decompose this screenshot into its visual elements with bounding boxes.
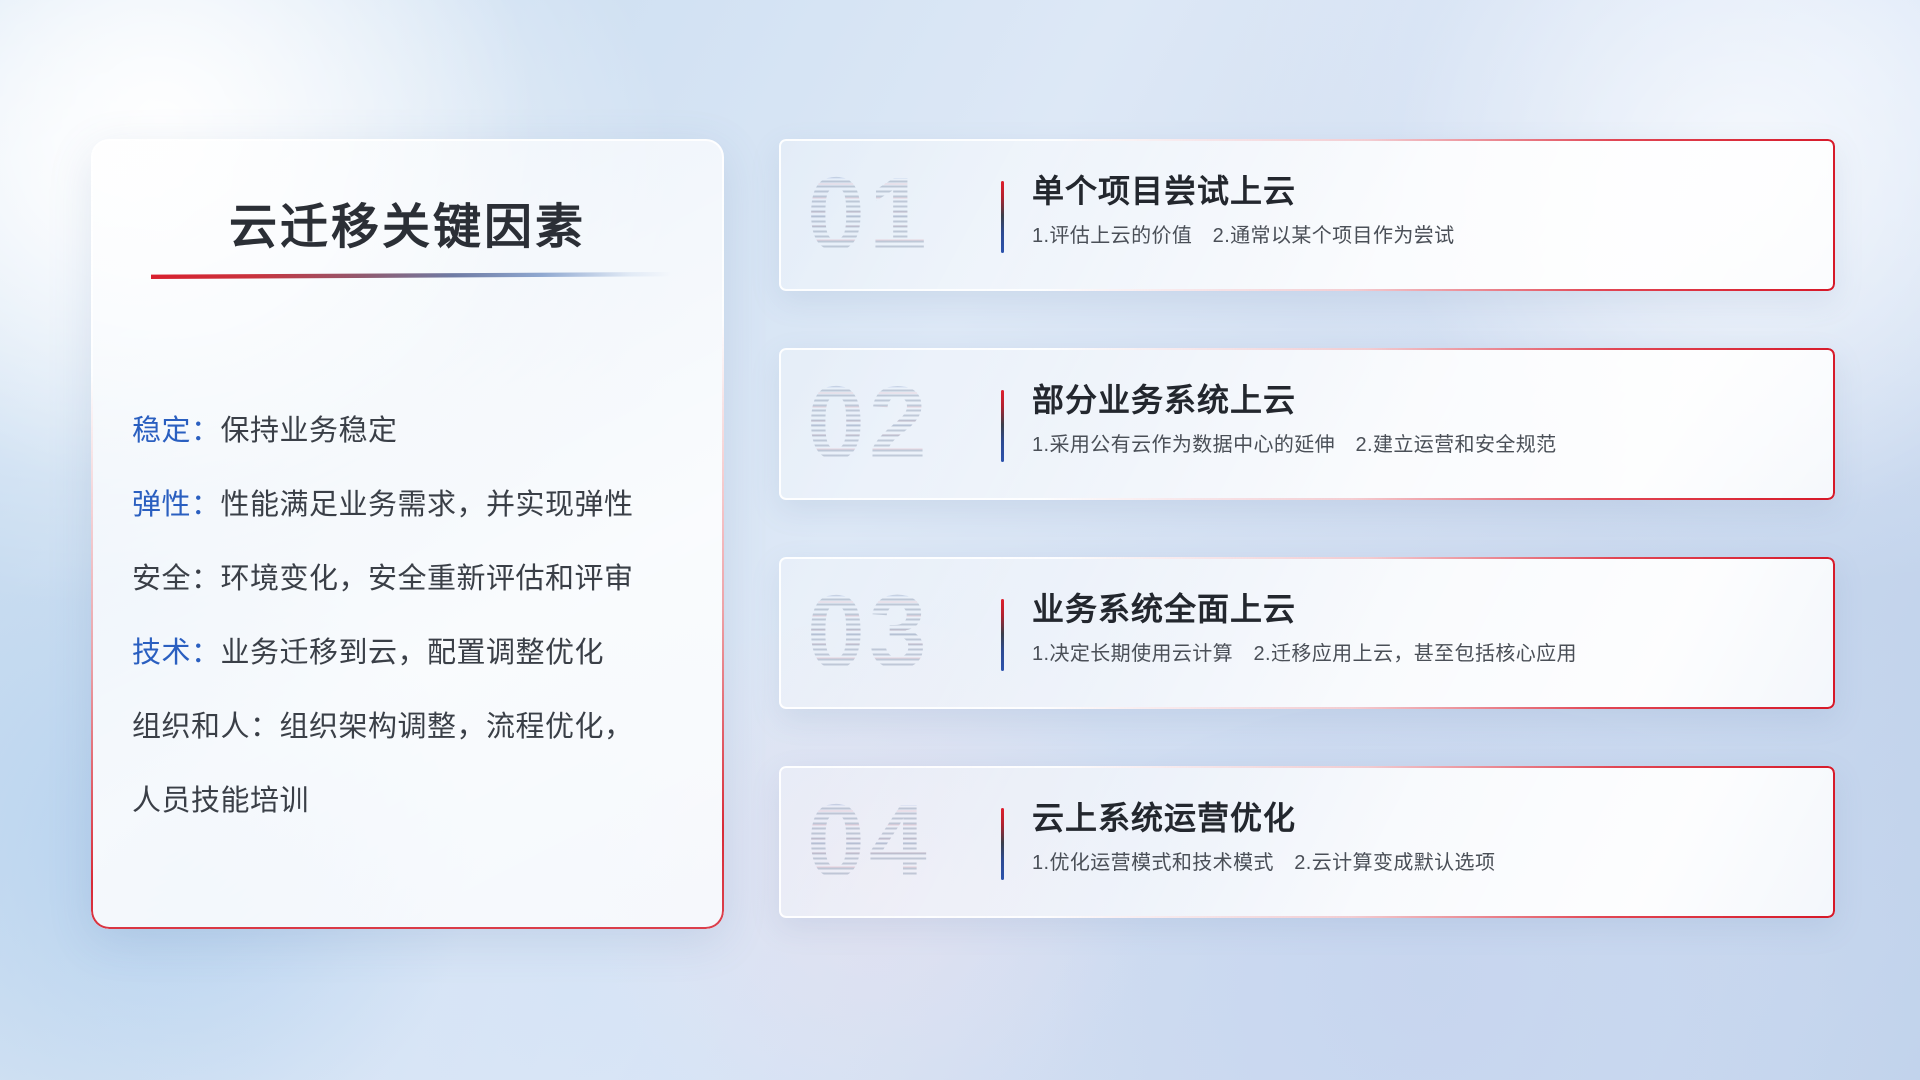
factor-item: 安全：环境变化，安全重新评估和评审 <box>132 542 694 616</box>
step-accent-bar <box>1001 390 1004 462</box>
step-body: 云上系统运营优化 1.优化运营模式和技术模式 2.云计算变成默认选项 <box>1032 796 1811 877</box>
step-number: 02 <box>807 365 931 484</box>
factor-label: 稳定： <box>132 415 221 447</box>
panel-title: 云迁移关键因素 <box>91 187 724 257</box>
factor-label: 安全： <box>132 563 221 595</box>
step-title: 单个项目尝试上云 <box>1032 169 1811 213</box>
factor-item: 稳定：保持业务稳定 <box>132 394 694 468</box>
factor-label: 组织和人： <box>132 711 280 743</box>
factor-text: 业务迁移到云，配置调整优化 <box>221 637 605 669</box>
factor-item: 弹性：性能满足业务需求，并实现弹性 <box>132 468 694 542</box>
factor-item-continuation: 人员技能培训 <box>132 764 694 838</box>
factor-text: 环境变化，安全重新评估和评审 <box>221 563 634 595</box>
key-factors-panel: 云迁移关键因素 稳定：保持业务稳定 弹性：性能满足业务需求，并实现弹性 安全：环… <box>91 139 724 929</box>
step-body: 部分业务系统上云 1.采用公有云作为数据中心的延伸 2.建立运营和安全规范 <box>1032 378 1811 459</box>
step-number: 01 <box>807 156 931 275</box>
step-accent-bar <box>1001 181 1004 253</box>
step-description: 1.评估上云的价值 2.通常以某个项目作为尝试 <box>1032 222 1811 250</box>
migration-steps-list: 01 01 单个项目尝试上云 1.评估上云的价值 2.通常以某个项目作为尝试 0… <box>779 139 1835 918</box>
factor-text: 性能满足业务需求，并实现弹性 <box>221 489 634 521</box>
factor-label: 弹性： <box>132 489 221 521</box>
step-description: 1.决定长期使用云计算 2.迁移应用上云，甚至包括核心应用 <box>1032 640 1811 668</box>
step-card-01[interactable]: 01 01 单个项目尝试上云 1.评估上云的价值 2.通常以某个项目作为尝试 <box>779 139 1835 291</box>
step-number-tint: 04 <box>807 783 931 902</box>
step-accent-bar <box>1001 808 1004 880</box>
slide-root: 云迁移关键因素 稳定：保持业务稳定 弹性：性能满足业务需求，并实现弹性 安全：环… <box>0 0 1920 1080</box>
step-description: 1.采用公有云作为数据中心的延伸 2.建立运营和安全规范 <box>1032 431 1811 459</box>
factor-text: 组织架构调整，流程优化， <box>280 711 634 743</box>
factor-item: 组织和人：组织架构调整，流程优化， <box>132 690 694 764</box>
factor-list: 稳定：保持业务稳定 弹性：性能满足业务需求，并实现弹性 安全：环境变化，安全重新… <box>132 394 694 838</box>
step-card-04[interactable]: 04 04 云上系统运营优化 1.优化运营模式和技术模式 2.云计算变成默认选项 <box>779 766 1835 918</box>
step-number-tint: 01 <box>807 156 931 275</box>
step-number-tint: 02 <box>807 365 931 484</box>
step-number: 04 <box>807 783 931 902</box>
step-accent-bar <box>1001 599 1004 671</box>
factor-text: 保持业务稳定 <box>221 415 398 447</box>
step-body: 业务系统全面上云 1.决定长期使用云计算 2.迁移应用上云，甚至包括核心应用 <box>1032 587 1811 668</box>
step-description: 1.优化运营模式和技术模式 2.云计算变成默认选项 <box>1032 849 1811 877</box>
title-underline-rule <box>151 272 671 279</box>
step-card-02[interactable]: 02 02 部分业务系统上云 1.采用公有云作为数据中心的延伸 2.建立运营和安… <box>779 348 1835 500</box>
step-title: 云上系统运营优化 <box>1032 796 1811 840</box>
step-title: 部分业务系统上云 <box>1032 378 1811 422</box>
factor-label: 技术： <box>132 637 221 669</box>
step-body: 单个项目尝试上云 1.评估上云的价值 2.通常以某个项目作为尝试 <box>1032 169 1811 250</box>
step-number: 03 <box>807 574 931 693</box>
step-title: 业务系统全面上云 <box>1032 587 1811 631</box>
factor-text-line2: 人员技能培训 <box>132 785 309 817</box>
step-card-03[interactable]: 03 03 业务系统全面上云 1.决定长期使用云计算 2.迁移应用上云，甚至包括… <box>779 557 1835 709</box>
factor-item: 技术：业务迁移到云，配置调整优化 <box>132 616 694 690</box>
step-number-tint: 03 <box>807 574 931 693</box>
